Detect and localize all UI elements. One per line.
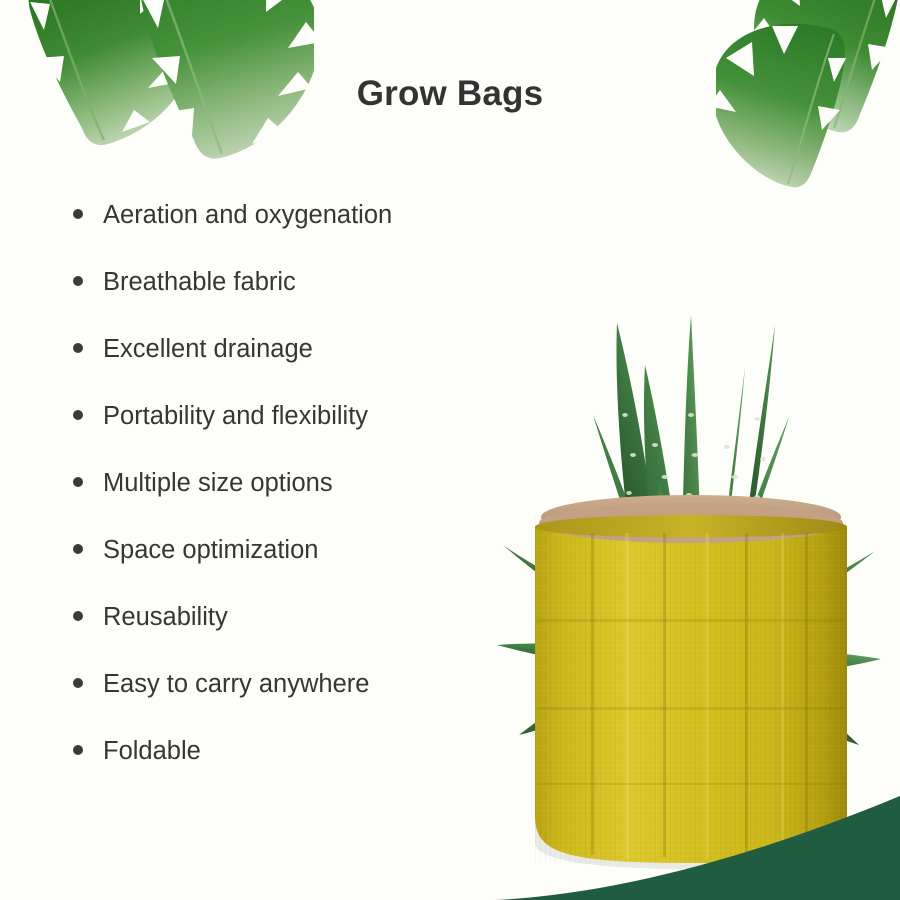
bullet-dot-icon [73,544,83,554]
list-item: Breathable fabric [62,263,492,330]
monstera-leaf-icon [29,0,197,145]
list-item: Space optimization [62,531,492,598]
list-item: Foldable [62,732,492,799]
product-image [495,215,885,870]
bullet-dot-icon [73,745,83,755]
bag-rim [535,515,847,538]
bullet-dot-icon [73,678,83,688]
list-item-label: Foldable [103,737,201,765]
list-item: Reusability [62,598,492,665]
infographic-canvas: Grow Bags Aeration and oxygenation Breat… [0,0,900,900]
bullet-dot-icon [73,343,83,353]
list-item-label: Reusability [103,603,228,631]
list-item: Excellent drainage [62,330,492,397]
list-item-label: Aeration and oxygenation [103,201,392,229]
list-item-label: Excellent drainage [103,335,313,363]
bottom-swoosh-decoration [0,790,900,900]
list-item-label: Space optimization [103,536,318,564]
list-item: Aeration and oxygenation [62,196,492,263]
bullet-dot-icon [73,477,83,487]
list-item-label: Breathable fabric [103,268,296,296]
list-item-label: Easy to carry anywhere [103,670,369,698]
list-item: Portability and flexibility [62,397,492,464]
bullet-dot-icon [73,410,83,420]
bullet-dot-icon [73,209,83,219]
page-title: Grow Bags [0,74,900,114]
list-item-label: Portability and flexibility [103,402,368,430]
bullet-dot-icon [73,611,83,621]
feature-list: Aeration and oxygenation Breathable fabr… [62,196,492,799]
bullet-dot-icon [73,276,83,286]
list-item: Easy to carry anywhere [62,665,492,732]
list-item: Multiple size options [62,464,492,531]
list-item-label: Multiple size options [103,469,333,497]
